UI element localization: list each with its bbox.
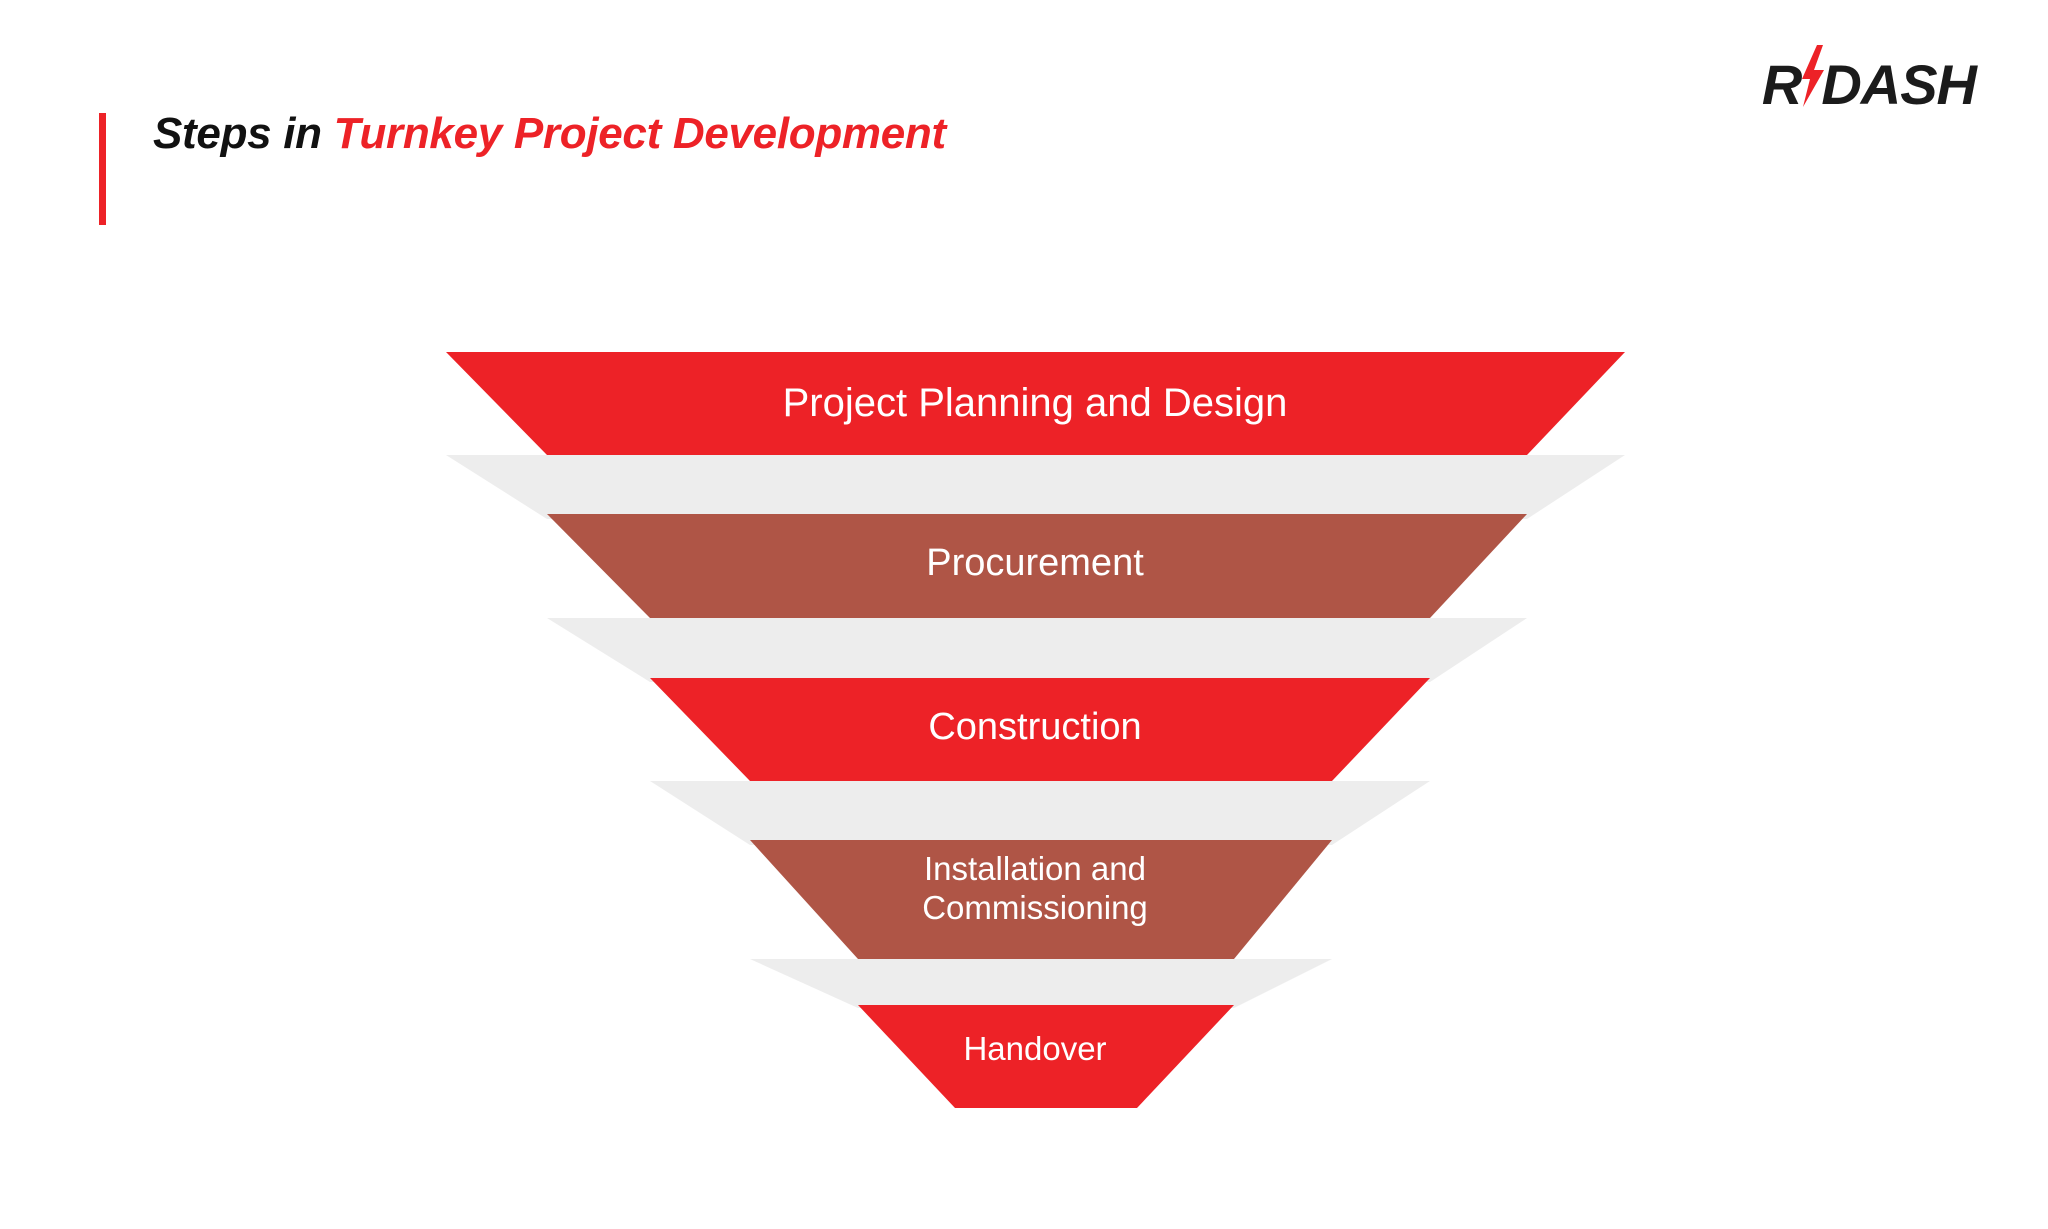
funnel-stage-4: [750, 840, 1332, 959]
funnel-connector-1: [446, 455, 1625, 519]
funnel-stage-1: [446, 352, 1625, 455]
funnel-connector-4: [750, 959, 1332, 1008]
funnel-stage-2: [547, 514, 1527, 618]
funnel-stage-3: [650, 678, 1430, 781]
funnel-connector-2: [547, 618, 1527, 682]
funnel-connector-3: [650, 781, 1430, 845]
funnel-stage-5: [858, 1005, 1234, 1108]
funnel-diagram: Project Planning and Design Procurement …: [0, 0, 2048, 1229]
